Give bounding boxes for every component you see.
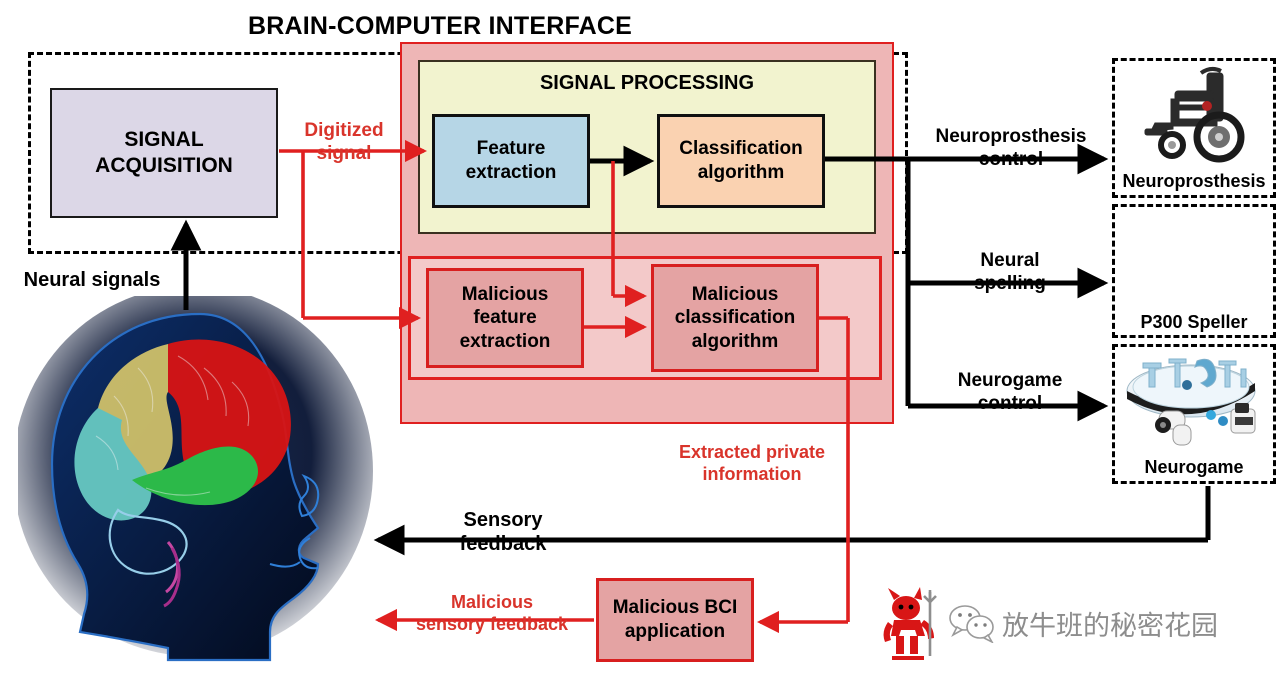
output-p300-speller-label: P300 Speller <box>1115 312 1273 333</box>
feature-extraction-box[interactable]: Feature extraction <box>432 114 590 208</box>
diagram-canvas: BRAIN-COMPUTER INTERFACE SIGNAL ACQUISIT… <box>0 0 1280 674</box>
malicious-feature-label-line2: feature <box>460 306 551 329</box>
label-malicious-feedback-line1: Malicious <box>392 592 592 614</box>
output-neurogame-label: Neurogame <box>1115 457 1273 478</box>
malicious-classification-box[interactable]: Malicious classification algorithm <box>651 264 819 372</box>
label-neurogame-control: Neurogame control <box>920 370 1100 416</box>
output-neuroprosthesis[interactable]: Neuroprosthesis <box>1112 58 1276 198</box>
classification-algorithm-box[interactable]: Classification algorithm <box>657 114 825 208</box>
label-neurogame-line1: Neurogame <box>920 370 1100 393</box>
wechat-icon <box>948 603 996 643</box>
label-neural-spelling-line2: spelling <box>930 273 1090 296</box>
label-digitized-line1: Digitized <box>288 120 400 143</box>
label-neuroprosthesis-control: Neuroprosthesis control <box>916 126 1106 172</box>
label-extracted-private-information: Extracted private information <box>650 442 854 485</box>
page-title: BRAIN-COMPUTER INTERFACE <box>0 12 880 41</box>
label-neural-spelling: Neural spelling <box>930 250 1090 296</box>
feature-extraction-label-line1: Feature <box>466 137 557 161</box>
malicious-feature-label-line3: extraction <box>460 330 551 353</box>
label-neurogame-line2: control <box>920 393 1100 416</box>
label-sensory-line2: feedback <box>420 532 586 556</box>
wheelchair-icon <box>1115 61 1273 165</box>
label-sensory-line1: Sensory <box>420 508 586 532</box>
brain-head-illustration <box>18 296 378 664</box>
malicious-bci-app-label-line2: application <box>613 620 738 644</box>
output-neuroprosthesis-label: Neuroprosthesis <box>1115 171 1273 192</box>
label-extracted-line1: Extracted private <box>650 442 854 464</box>
malicious-feature-extraction-box[interactable]: Malicious feature extraction <box>426 268 584 368</box>
output-p300-speller[interactable]: ABCDEFGHIJKLMNOPQRSTUVWXYZ1234567890 P30… <box>1112 204 1276 338</box>
label-neuroprosthesis-line2: control <box>916 149 1106 172</box>
label-neuroprosthesis-line1: Neuroprosthesis <box>916 126 1106 149</box>
malicious-bci-application-box[interactable]: Malicious BCI application <box>596 578 754 662</box>
watermark: 放牛班的秘密花园 <box>880 586 1218 660</box>
label-extracted-line2: information <box>650 464 854 486</box>
label-sensory-feedback: Sensory feedback <box>420 508 586 556</box>
label-malicious-feedback-line2: sensory feedback <box>392 614 592 636</box>
label-malicious-sensory-feedback: Malicious sensory feedback <box>392 592 592 635</box>
malicious-classification-label-line1: Malicious <box>675 283 795 306</box>
classification-label-line1: Classification <box>679 137 803 161</box>
watermark-text: 放牛班的秘密花园 <box>1002 604 1218 643</box>
label-digitized-signal: Digitized signal <box>288 120 400 166</box>
label-neural-spelling-line1: Neural <box>930 250 1090 273</box>
neurogame-icon <box>1115 347 1273 453</box>
signal-acquisition-label-line1: SIGNAL <box>95 127 233 153</box>
label-neural-signals: Neural signals <box>2 268 182 292</box>
label-digitized-line2: signal <box>288 143 400 166</box>
devil-icon <box>880 586 942 660</box>
signal-acquisition-label-line2: ACQUISITION <box>95 153 233 179</box>
signal-acquisition-box[interactable]: SIGNAL ACQUISITION <box>50 88 278 218</box>
malicious-feature-label-line1: Malicious <box>460 283 551 306</box>
malicious-classification-label-line2: classification <box>675 306 795 329</box>
malicious-bci-app-label-line1: Malicious BCI <box>613 596 738 620</box>
signal-processing-title: SIGNAL PROCESSING <box>418 72 876 95</box>
malicious-classification-label-line3: algorithm <box>675 330 795 353</box>
feature-extraction-label-line2: extraction <box>466 161 557 185</box>
output-neurogame[interactable]: Neurogame <box>1112 344 1276 484</box>
classification-label-line2: algorithm <box>679 161 803 185</box>
